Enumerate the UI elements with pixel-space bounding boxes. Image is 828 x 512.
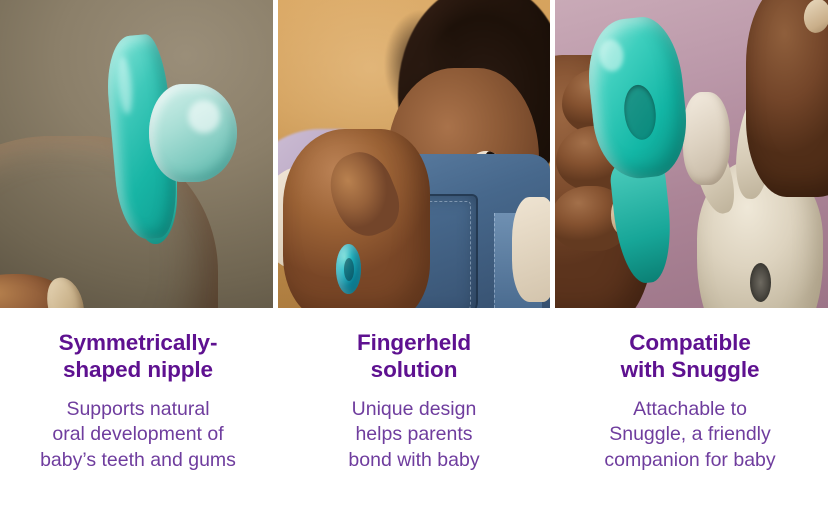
- adult-hand-shape: [283, 129, 430, 308]
- feature-caption-strip: Symmetrically- shaped nipple Supports na…: [0, 308, 828, 512]
- feature-title: Compatible with Snuggle: [566, 330, 814, 384]
- right-hand-shape: [746, 0, 828, 197]
- pacifier-nipple: [149, 84, 237, 182]
- feature-caption-compatible-with-snuggle: Compatible with Snuggle Attachable to Sn…: [552, 308, 828, 512]
- feature-image-compatible-with-snuggle: [555, 0, 828, 308]
- feature-description: Unique design helps parents bond with ba…: [290, 397, 538, 475]
- feature-image-symmetrically-shaped-nipple: [0, 0, 273, 308]
- plush-eye-shape: [750, 263, 771, 302]
- feature-title: Fingerheld solution: [290, 330, 538, 384]
- feature-caption-fingerheld-solution: Fingerheld solution Unique design helps …: [276, 308, 552, 512]
- plush-smile-shape: [752, 298, 775, 308]
- feature-media-strip: [0, 0, 828, 308]
- cream-fabric-shape: [512, 197, 550, 302]
- feature-description: Attachable to Snuggle, a friendly compan…: [566, 397, 814, 475]
- feature-title: Symmetrically- shaped nipple: [14, 330, 262, 384]
- pacifier-product: [112, 31, 237, 253]
- thumb-shape: [320, 144, 409, 245]
- feature-description: Supports natural oral development of bab…: [14, 397, 262, 475]
- feature-caption-symmetrically-shaped-nipple: Symmetrically- shaped nipple Supports na…: [0, 308, 276, 512]
- feature-grid: Symmetrically- shaped nipple Supports na…: [0, 0, 828, 512]
- feature-image-fingerheld-solution: [278, 0, 551, 308]
- fingernail-shape: [801, 0, 828, 35]
- pacifier-product: [336, 244, 361, 294]
- plush-attachment-tag: [683, 92, 729, 184]
